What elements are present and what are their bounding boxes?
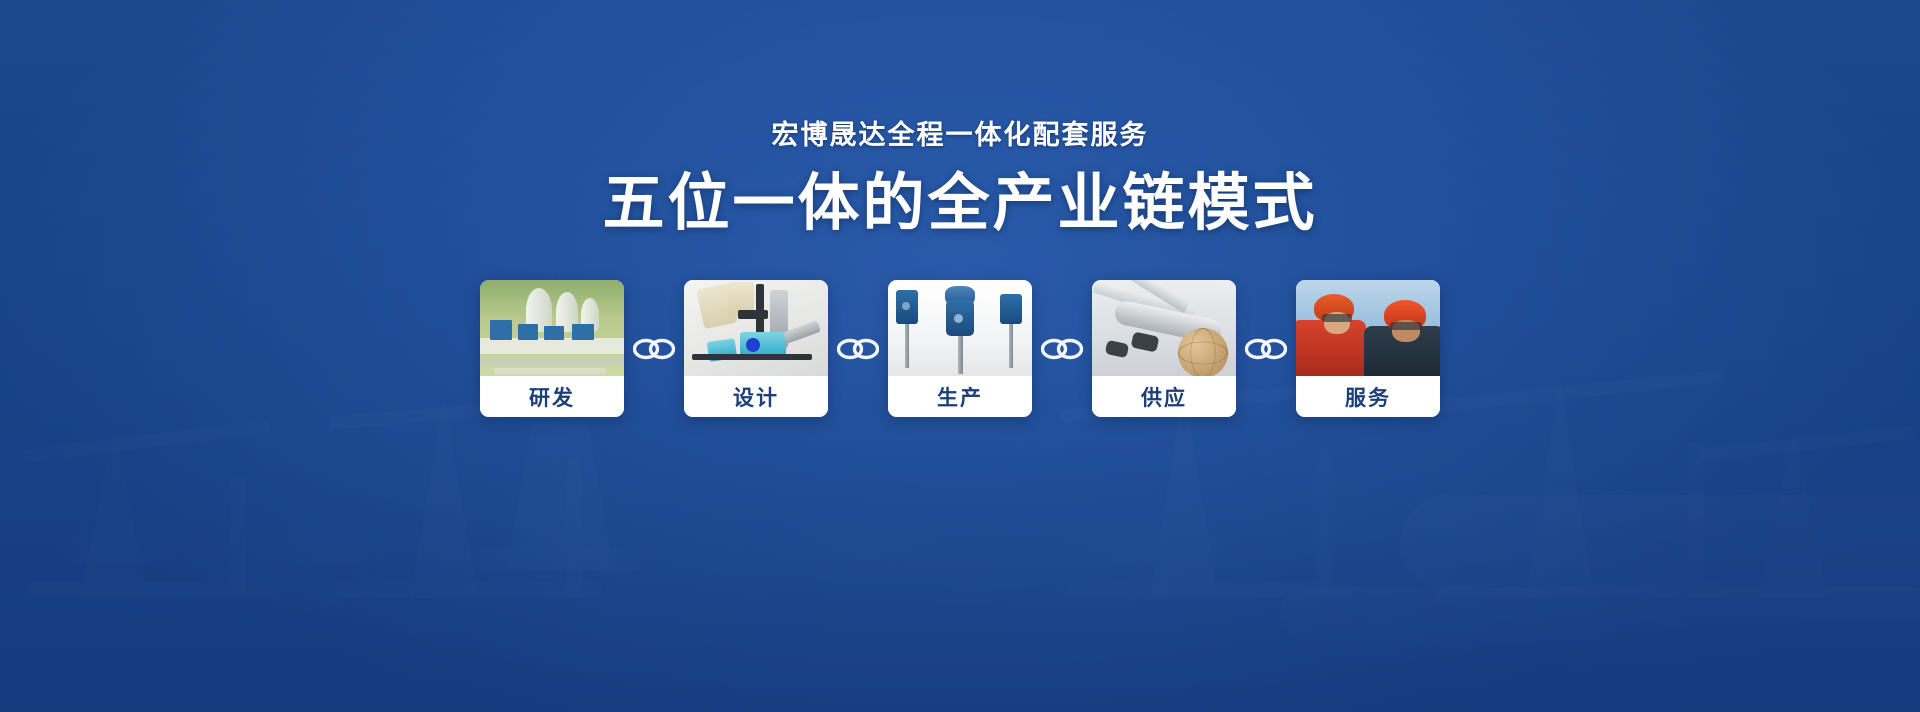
- chain-card-label: 研发: [480, 376, 624, 417]
- value-chain-row: 研发: [480, 280, 1440, 417]
- chain-card-label: 生产: [888, 376, 1032, 417]
- chain-card-design[interactable]: 设计: [684, 280, 828, 417]
- chain-link-icon: [1236, 336, 1296, 362]
- chain-card-research[interactable]: 研发: [480, 280, 624, 417]
- thumbnail-cad-machine: [684, 280, 828, 376]
- chain-card-supply[interactable]: 供应: [1092, 280, 1236, 417]
- thumbnail-chemical-plant: [480, 280, 624, 376]
- chain-card-label: 设计: [684, 376, 828, 417]
- chain-card-production[interactable]: 生产: [888, 280, 1032, 417]
- chain-link-icon: [624, 336, 684, 362]
- thumbnail-instrument-products: [888, 280, 1032, 376]
- chain-card-service[interactable]: 服务: [1296, 280, 1440, 417]
- thumbnail-aircraft-globe: [1092, 280, 1236, 376]
- banner-content: 宏博晟达全程一体化配套服务 五位一体的全产业链模式 研: [0, 0, 1920, 712]
- chain-card-label: 供应: [1092, 376, 1236, 417]
- banner-headline: 五位一体的全产业链模式: [602, 171, 1317, 236]
- chain-card-label: 服务: [1296, 376, 1440, 417]
- chain-link-icon: [1032, 336, 1092, 362]
- banner-subtitle: 宏博晟达全程一体化配套服务: [772, 122, 1149, 149]
- thumbnail-field-workers: [1296, 280, 1440, 376]
- chain-link-icon: [828, 336, 888, 362]
- hero-banner: 宏博晟达全程一体化配套服务 五位一体的全产业链模式 研: [0, 0, 1920, 712]
